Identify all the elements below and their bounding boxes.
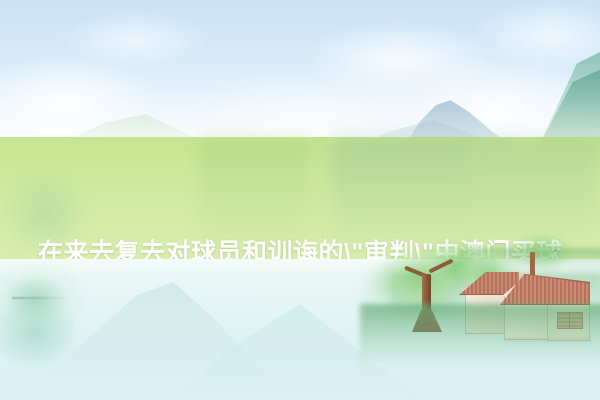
landscape-banner: 在来去复去对球员和训诲的\"审判\"中澳门买球 网体育信息 xyxy=(0,0,600,400)
foliage-wisp xyxy=(0,299,80,369)
bird-icon xyxy=(552,250,560,256)
grass-ground xyxy=(360,304,600,374)
foliage-wisp xyxy=(0,259,90,339)
branch-icon xyxy=(12,297,70,299)
cottage-scene xyxy=(370,244,600,400)
washed-mountain xyxy=(40,271,270,381)
sky-background xyxy=(0,0,600,150)
